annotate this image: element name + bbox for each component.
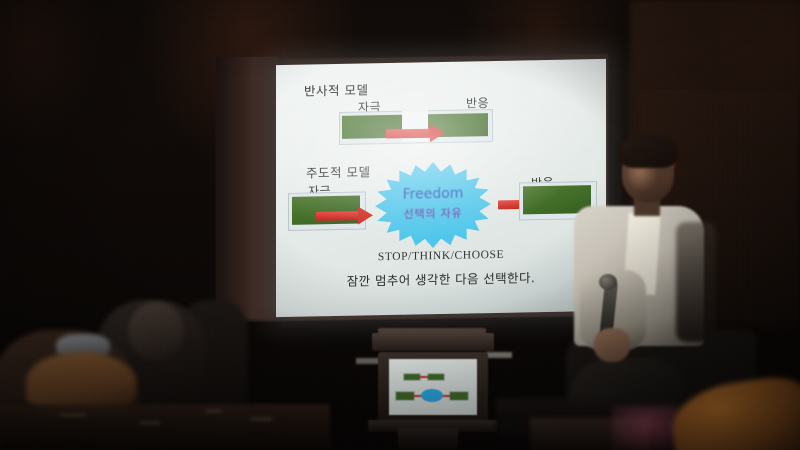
freedom-title: Freedom xyxy=(375,185,491,203)
projected-slide: 반사적 모델 자극 반응 주도적 모델 자극 반응 Freedom 선택의 자유 xyxy=(276,59,606,317)
speaker-hand xyxy=(594,328,630,362)
slide-content: 반사적 모델 자극 반응 주도적 모델 자극 반응 Freedom 선택의 자유 xyxy=(276,59,606,317)
slide-footer-english: STOP/THINK/CHOOSE xyxy=(276,247,606,265)
proactive-model-title: 주도적 모델 xyxy=(306,161,370,181)
reflexive-model-title: 반사적 모델 xyxy=(304,79,368,99)
proactive-arrow-left-icon xyxy=(316,206,374,225)
freedom-starburst: Freedom 선택의 자유 xyxy=(375,161,491,249)
photo-scene: 반사적 모델 자극 반응 주도적 모델 자극 반응 Freedom 선택의 자유 xyxy=(0,0,800,450)
laptop-screen xyxy=(389,359,477,415)
seat-row xyxy=(0,404,330,450)
speaker-shoulder-shadow xyxy=(676,222,716,342)
freedom-subtitle: 선택의 자유 xyxy=(375,204,491,222)
speaker-hair xyxy=(618,134,678,168)
microphone-head-icon xyxy=(599,274,617,290)
laptop xyxy=(378,352,488,424)
audience-member-left-hair xyxy=(26,352,136,412)
slide-footer-korean: 잠깐 멈추어 생각한 다음 선택한다. xyxy=(276,266,606,291)
projector-arm-right xyxy=(486,352,512,358)
projection-screen-left-band xyxy=(216,57,278,320)
projector-pillar xyxy=(398,428,458,450)
projector-arm-left xyxy=(356,358,380,364)
audience-member-middle-head xyxy=(128,302,184,360)
projector-body xyxy=(372,333,494,351)
reflexive-arrow-icon xyxy=(386,124,446,143)
